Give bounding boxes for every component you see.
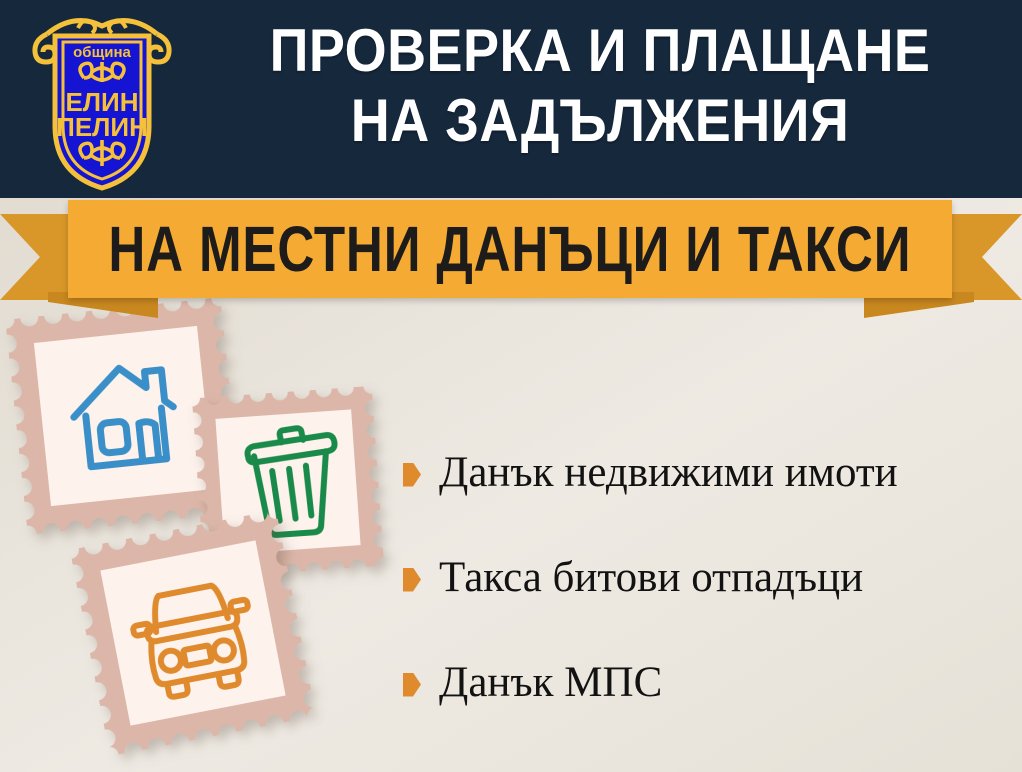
ribbon-banner: НА МЕСТНИ ДАНЪЦИ И ТАКСИ (0, 196, 1022, 312)
ribbon-main-band: НА МЕСТНИ ДАНЪЦИ И ТАКСИ (68, 200, 952, 298)
list-item-label: Данък МПС (439, 659, 662, 706)
list-item-label: Данък недвижими имоти (439, 449, 898, 496)
list-item[interactable]: Данък недвижими имоти (403, 420, 1013, 525)
list-item[interactable]: Такса битови отпадъци (403, 525, 1013, 630)
list-item[interactable]: Данък МПС (403, 630, 1013, 735)
municipality-crest: община ЕЛИН ПЕЛИН (22, 6, 182, 192)
poster-canvas: община ЕЛИН ПЕЛИН ПРОВЕРКА И ПЛАЩАНЕ НА … (0, 0, 1022, 772)
page-title-line-1: ПРОВЕРКА И ПЛАЩАНЕ (231, 16, 969, 86)
bullet-arrow-icon (403, 673, 421, 697)
stamp-cards-group (0, 300, 420, 772)
page-title: ПРОВЕРКА И ПЛАЩАНЕ НА ЗАДЪЛЖЕНИЯ (190, 16, 1010, 155)
crest-name-line2: ПЕЛИН (56, 112, 148, 142)
list-item-label: Такса битови отпадъци (439, 554, 863, 601)
bullet-arrow-icon (403, 463, 421, 487)
bullet-arrow-icon (403, 568, 421, 592)
stamp-card-vehicle (70, 510, 316, 756)
crest-municipality-label: община (73, 44, 131, 61)
header-bar: община ЕЛИН ПЕЛИН ПРОВЕРКА И ПЛАЩАНЕ НА … (0, 0, 1022, 198)
tax-types-list: Данък недвижими имоти Такса битови отпад… (403, 420, 1013, 735)
ribbon-label: НА МЕСТНИ ДАНЪЦИ И ТАКСИ (109, 217, 912, 281)
page-title-line-2: НА ЗАДЪЛЖЕНИЯ (231, 86, 969, 156)
